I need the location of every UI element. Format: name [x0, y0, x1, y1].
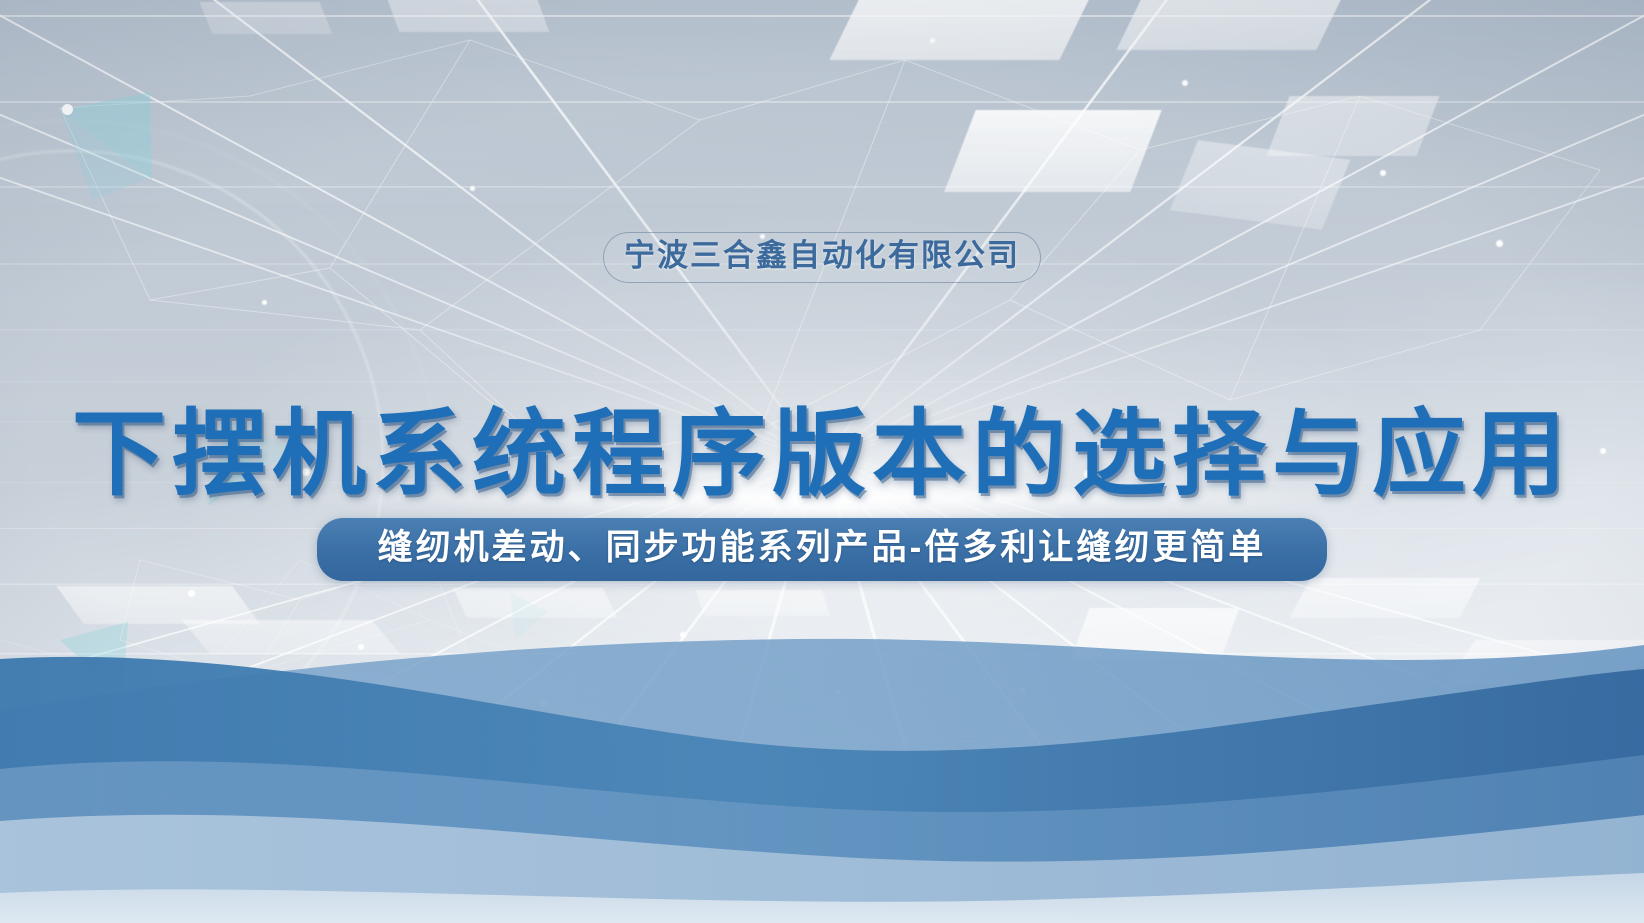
page-title: 下摆机系统程序版本的选择与应用 — [72, 401, 1572, 506]
company-name-badge: 宁波三合鑫自动化有限公司 — [603, 232, 1041, 283]
slide-content: 宁波三合鑫自动化有限公司 下摆机系统程序版本的选择与应用 缝纫机差动、同步功能系… — [0, 0, 1644, 923]
title-slide: 宁波三合鑫自动化有限公司 下摆机系统程序版本的选择与应用 缝纫机差动、同步功能系… — [0, 0, 1644, 923]
subtitle-banner: 缝纫机差动、同步功能系列产品-倍多利让缝纫更简单 — [317, 518, 1327, 581]
subtitle-text: 缝纫机差动、同步功能系列产品-倍多利让缝纫更简单 — [347, 527, 1297, 569]
